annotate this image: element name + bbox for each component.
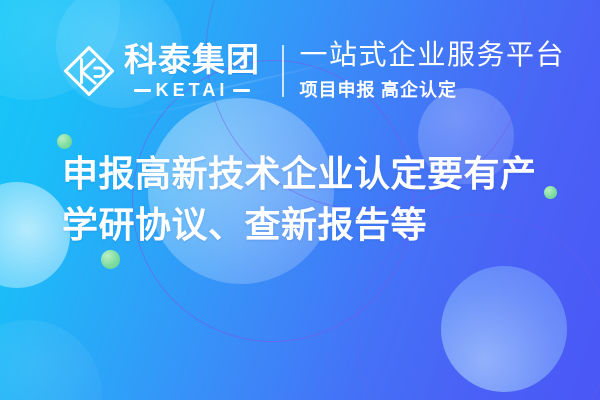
background-circle-left-edge [0, 182, 70, 288]
background-circle-bottom-right [441, 266, 567, 392]
promo-banner: 科泰集团 KETAI 一站式企业服务平台 项目申报 高企认定 申报高新技术企业认… [0, 0, 600, 400]
ketai-diamond-logo-icon [62, 44, 116, 98]
slogan-block: 一站式企业服务平台 项目申报 高企认定 [300, 40, 566, 102]
accent-dot-lower-left [101, 250, 120, 269]
background-circle-bottom-left [0, 320, 102, 400]
slogan-secondary: 项目申报 高企认定 [300, 76, 566, 102]
brand-name-en-row: KETAI [134, 81, 251, 99]
headline-title: 申报高新技术企业认定要有产学研协议、查新报告等 [62, 148, 540, 250]
brand-name-cn: 科泰集团 [124, 43, 260, 76]
banner-header: 科泰集团 KETAI 一站式企业服务平台 项目申报 高企认定 [62, 38, 565, 104]
accent-dot-right [544, 186, 557, 199]
wordmark-rule-left [134, 89, 151, 92]
wordmark-rule-right [233, 89, 250, 92]
slogan-primary: 一站式企业服务平台 [300, 40, 566, 70]
header-divider [282, 45, 284, 97]
brand-lockup[interactable]: 科泰集团 KETAI [62, 43, 260, 99]
accent-dot-upper-left [57, 134, 72, 149]
brand-name-en: KETAI [156, 81, 229, 99]
brand-wordmark: 科泰集团 KETAI [124, 43, 260, 99]
